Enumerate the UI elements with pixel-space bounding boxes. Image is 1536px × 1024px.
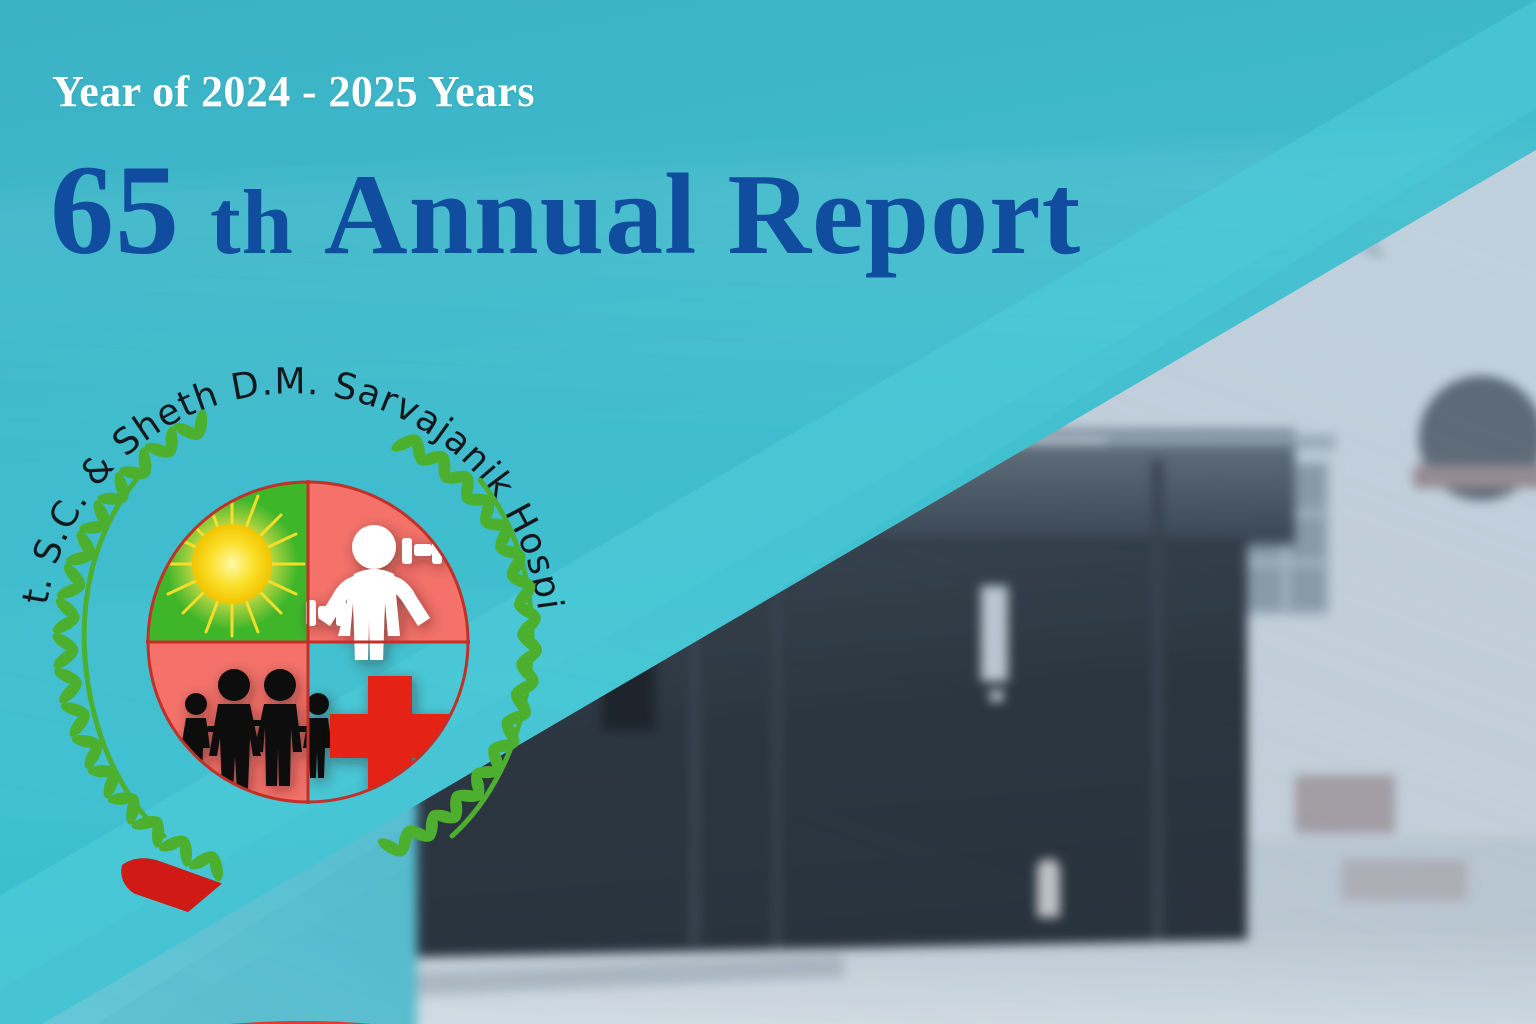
cover-page: Year of 2024 - 2025 Years 65 th Annual R… [0, 0, 1536, 1024]
page-title: 65 th Annual Report [50, 146, 1081, 274]
hospital-logo: Smt. S.C. & Sheth D.M. Sarvajanik Hospit… [18, 312, 578, 832]
red-cross-icon [330, 676, 450, 802]
logo-emblem-circle [146, 480, 470, 804]
title-number: 65 [50, 139, 180, 281]
title-ordinal: th [210, 171, 294, 273]
cover-subtitle: Year of 2024 - 2025 Years [52, 66, 535, 117]
title-rest: Annual Report [324, 151, 1081, 279]
